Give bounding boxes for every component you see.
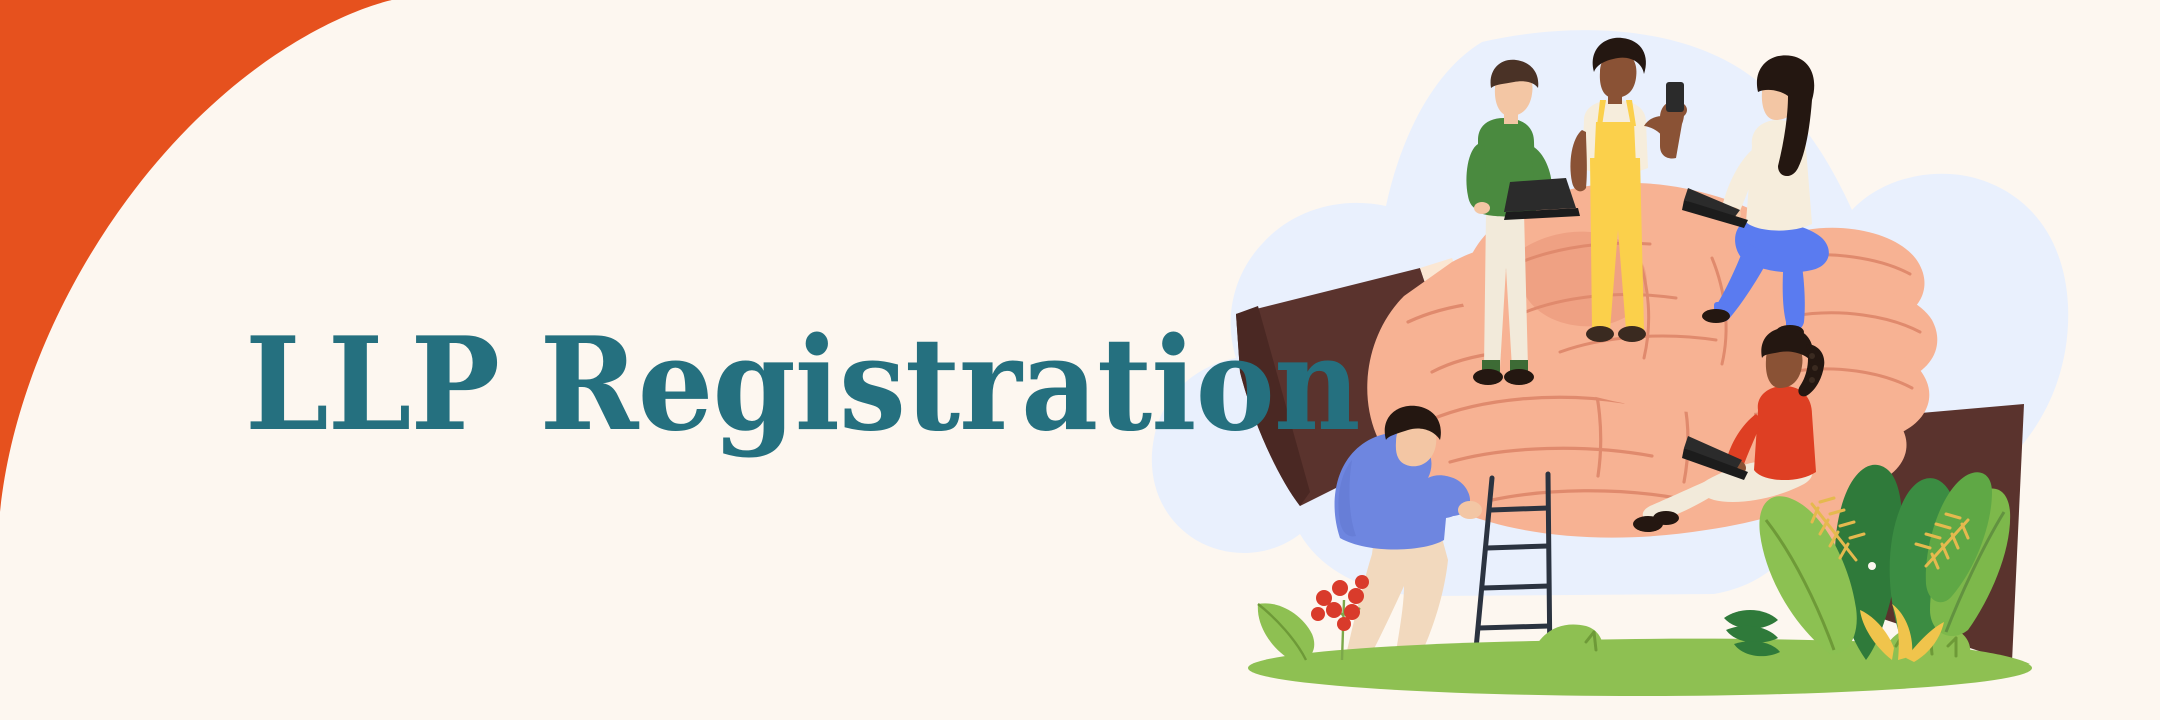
shoe	[1504, 369, 1534, 385]
laptop	[1504, 178, 1576, 212]
red-top	[1754, 386, 1816, 480]
banner-artwork	[0, 0, 2160, 720]
llp-registration-banner: LLP Registration	[0, 0, 2160, 720]
smartphone	[1666, 82, 1684, 112]
shoe	[1473, 369, 1503, 385]
artboard	[0, 0, 2160, 720]
hand	[1458, 501, 1482, 519]
